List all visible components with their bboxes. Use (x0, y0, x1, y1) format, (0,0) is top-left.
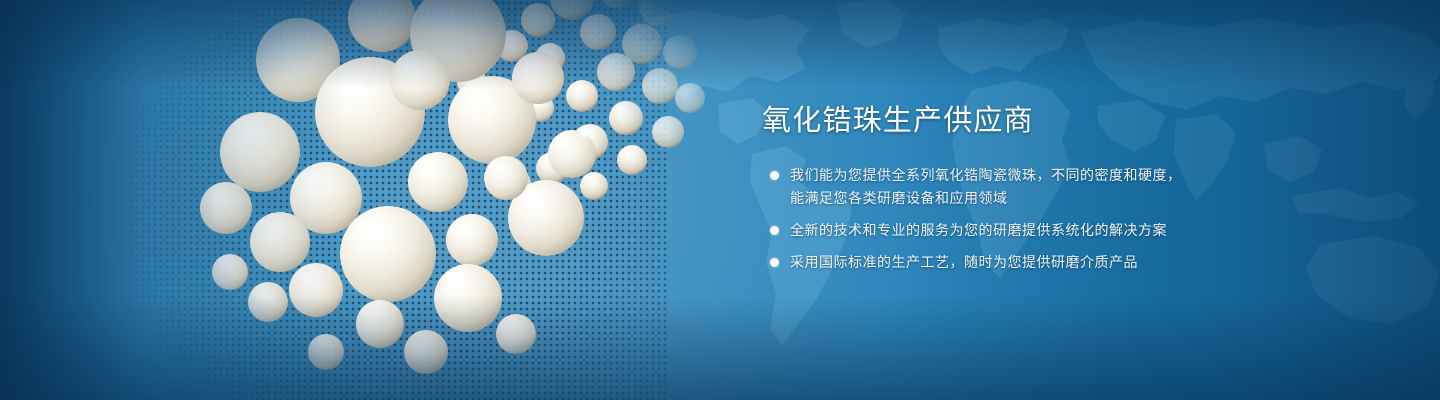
list-item-line2: 能满足您各类研磨设备和应用领域 (790, 187, 1362, 210)
filled-circle-bullet-icon (770, 226, 779, 235)
filled-circle-bullet-icon (770, 258, 779, 267)
feature-list: 我们能为您提供全系列氧化锆陶瓷微珠，不同的密度和硬度， 能满足您各类研磨设备和应… (762, 164, 1362, 274)
list-item: 采用国际标准的生产工艺，随时为您提供研磨介质产品 (762, 251, 1362, 274)
list-item-text: 全新的技术和专业的服务为您的研磨提供系统化的解决方案 (790, 219, 1362, 242)
list-item-line1: 采用国际标准的生产工艺，随时为您提供研磨介质产品 (790, 254, 1138, 270)
list-item-text: 我们能为您提供全系列氧化锆陶瓷微珠，不同的密度和硬度， 能满足您各类研磨设备和应… (790, 164, 1362, 210)
hero-banner: 氧化锆珠生产供应商 我们能为您提供全系列氧化锆陶瓷微珠，不同的密度和硬度， 能满… (0, 0, 1440, 400)
banner-content: 氧化锆珠生产供应商 我们能为您提供全系列氧化锆陶瓷微珠，不同的密度和硬度， 能满… (762, 104, 1362, 274)
list-item: 我们能为您提供全系列氧化锆陶瓷微珠，不同的密度和硬度， 能满足您各类研磨设备和应… (762, 164, 1362, 210)
page-title: 氧化锆珠生产供应商 (762, 104, 1362, 138)
list-item-text: 采用国际标准的生产工艺，随时为您提供研磨介质产品 (790, 251, 1362, 274)
filled-circle-bullet-icon (770, 171, 779, 180)
list-item-line1: 全新的技术和专业的服务为您的研磨提供系统化的解决方案 (790, 222, 1167, 238)
list-item-line1: 我们能为您提供全系列氧化锆陶瓷微珠，不同的密度和硬度， (790, 167, 1182, 183)
list-item: 全新的技术和专业的服务为您的研磨提供系统化的解决方案 (762, 219, 1362, 242)
